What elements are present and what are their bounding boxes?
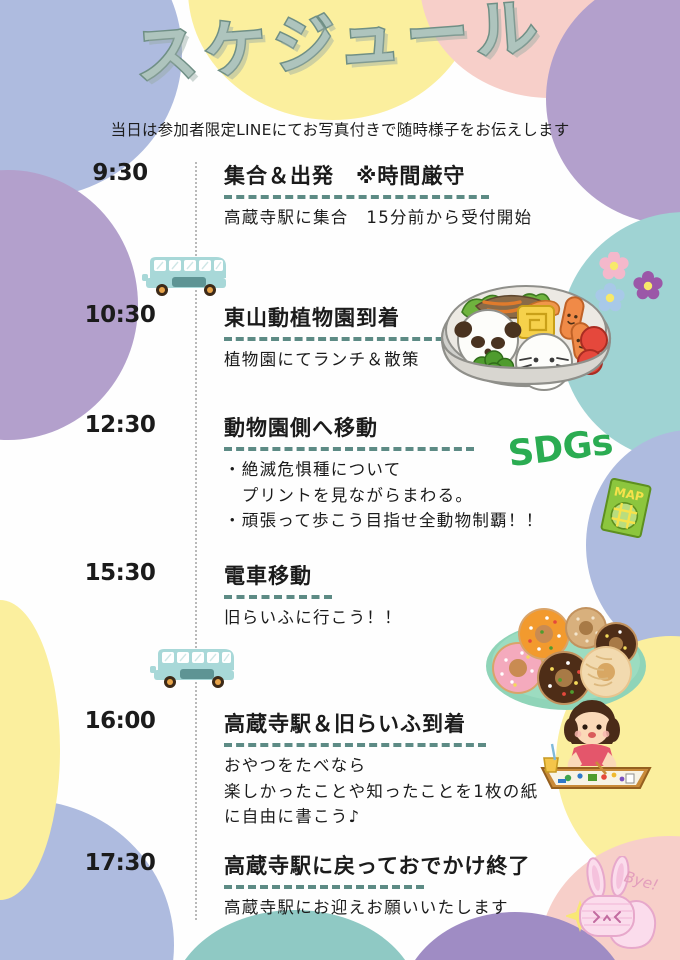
bento-box-illustration bbox=[432, 266, 620, 394]
schedule-divider bbox=[224, 743, 486, 747]
schedule-description: 高蔵寺駅に集合 15分前から受付開始 bbox=[224, 205, 664, 231]
schedule-divider bbox=[224, 195, 489, 199]
bus-icon bbox=[146, 642, 242, 692]
rabbit-sticker-icon bbox=[566, 856, 668, 956]
bus-icon bbox=[138, 250, 234, 300]
poster-subtitle: 当日は参加者限定LINEにてお写真付きで随時様子をお伝えします bbox=[0, 118, 680, 140]
girl-drawing-illustration bbox=[536, 692, 656, 794]
schedule-entry-body: 集合＆出発 ※時間厳守 高蔵寺駅に集合 15分前から受付開始 bbox=[224, 160, 664, 231]
schedule-time: 9:30 bbox=[60, 160, 180, 186]
schedule-divider bbox=[224, 447, 474, 451]
schedule-time: 16:00 bbox=[60, 708, 180, 734]
schedule-time: 17:30 bbox=[60, 850, 180, 876]
schedule-divider bbox=[224, 595, 332, 599]
schedule-heading: 電車移動 bbox=[224, 560, 664, 590]
map-icon: MAP bbox=[598, 476, 654, 540]
schedule-time: 10:30 bbox=[60, 302, 180, 328]
schedule-poster: スケジュール 当日は参加者限定LINEにてお写真付きで随時様子をお伝えします 9… bbox=[0, 0, 680, 960]
schedule-divider bbox=[224, 885, 424, 889]
schedule-time: 12:30 bbox=[60, 412, 180, 438]
poster-title-area: スケジュール bbox=[0, 6, 680, 77]
schedule-time: 15:30 bbox=[60, 560, 180, 586]
schedule-heading: 集合＆出発 ※時間厳守 bbox=[224, 160, 664, 190]
